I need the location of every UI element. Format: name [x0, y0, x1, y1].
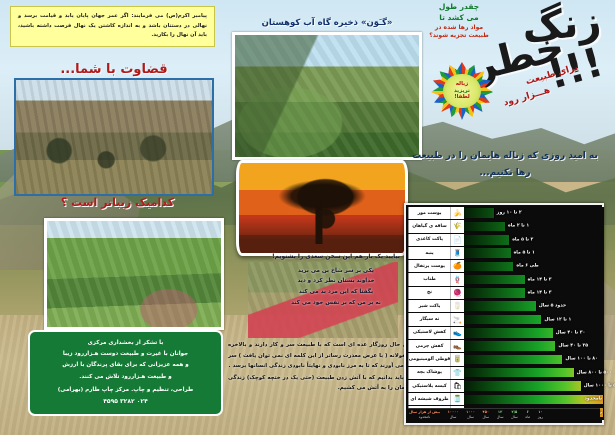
- chart-bar-value-label: ۳ تا ۱۴ ماه: [528, 277, 552, 282]
- essay-paragraph: همه ما باید بدانیم که با آتش زدن طبیعت (…: [228, 373, 424, 394]
- chart-bar-track: ۲ تا ۵ ماه: [464, 234, 604, 246]
- badge-line: نریزید: [454, 88, 470, 95]
- chart-bar-value-label: ۳۰ تا ۴۰ سال: [556, 330, 586, 335]
- chart-row-item-icon: 👕: [450, 367, 464, 379]
- chart-bar-value-label: ۲ تا ۱۰ روز: [497, 211, 522, 216]
- chart-bar: [464, 262, 514, 272]
- axis-tick: ۶ماه: [525, 410, 530, 419]
- chart-bar-value-label: ۲۵ تا ۴۰ سال: [558, 344, 588, 349]
- chart-bar-track: ۱ تا ۱۲ سال: [464, 313, 604, 325]
- chart-row-item-icon: 🍌: [450, 207, 464, 219]
- chart-row: ۳ تا ۱۴ ماه🪢طناب: [408, 273, 604, 286]
- axis-tick-unit: روز: [538, 415, 543, 419]
- chart-bar: [464, 248, 512, 258]
- chart-bar-track: ۲ تا ۱۰ روز: [464, 207, 604, 219]
- chart-row-label: پوشاک بچه: [408, 367, 450, 379]
- chart-row: ۵۰۰ تا ۸۰۰ سال👕پوشاک بچه: [408, 367, 604, 380]
- chart-row: ۵۱ تا ۱۰۰۰ سال🛍کیسه پلاستیکی: [408, 380, 604, 393]
- essay-paragraph: این مثل حال روزگار عده ای است که با طبیع…: [228, 340, 424, 372]
- chart-row-label: ظروف شیشه ای: [408, 393, 450, 405]
- chart-row-label: پنبه: [408, 247, 450, 259]
- chart-bar: [464, 315, 542, 325]
- hadith-box: پیامبر اکرم(ص) می فرمایند: اگر عمر جهان …: [10, 6, 215, 47]
- title-subline-hezarrud: هـــزار رود: [503, 86, 552, 109]
- chart-title-line4: طبیعت تجزیه شوند؟: [416, 32, 502, 41]
- credits-line: و طبیعت هـزاررود تلاش می کنند.: [38, 372, 213, 383]
- credits-line: با تشکر از بخشداری مرکزی: [38, 338, 213, 349]
- photo-burnt-forest: [14, 78, 214, 196]
- chart-bar-track: ۵۰۰ تا ۸۰۰ سال: [464, 367, 604, 379]
- chart-bar-value-label: ۳ تا ۱۴ ماه: [528, 290, 552, 295]
- axis-tick-unit: نامحدود: [419, 415, 431, 419]
- axis-tick: بیش از هزار سالنامحدود: [409, 410, 440, 419]
- chart-bar: [464, 368, 575, 378]
- chart-bar: [464, 208, 495, 218]
- chart-bar-value-label: طی ۶ ماه: [516, 264, 538, 269]
- chart-row-label: کیسه پلاستیکی: [408, 380, 450, 392]
- chart-bar: [464, 341, 556, 351]
- chart-bar: [464, 395, 604, 405]
- chart-bar: [464, 328, 554, 338]
- chart-row: حدود ۵ سال🥛پاکت شیر: [408, 300, 604, 313]
- chart-bar-value-label: ۱ تا ۲ ماه: [508, 224, 529, 229]
- chart-title: چقدر طول می کشد تا مواد رها شده در طبیعت…: [416, 2, 502, 41]
- chart-bar-track: ۸۰ تا ۱۰۰ سال: [464, 353, 604, 365]
- chart-row-item-icon: 🥛: [450, 300, 464, 312]
- chart-bar-track: ۱ تا ۵ ماه: [464, 247, 604, 259]
- chart-bar-track: ۳۰ تا ۴۰ سال: [464, 327, 604, 339]
- chart-x-axis: ۱۰روز۶ماه۲/۵سال۱۲سال۴۵۰سال۱۰۰۰سال۱۰۰۰۰سا…: [408, 408, 600, 421]
- poster-subtitle: به امید روزی که زباله هایمان را در طبیعت…: [407, 148, 603, 182]
- axis-tick-unit: سال: [511, 415, 518, 419]
- judge-title: قضاوت با شما...: [14, 62, 214, 77]
- chart-bar: [464, 222, 506, 232]
- axis-tick: ۱۰روز: [538, 410, 543, 419]
- axis-tick-unit: سال: [497, 415, 504, 419]
- axis-tick-unit: سال: [450, 415, 457, 419]
- caption-gavan: «گـَوَن» ذخیره گاه آب کوهستان: [232, 18, 422, 28]
- chart-row-label: ساقه ی گیاهان: [408, 220, 450, 232]
- photo-burning-tree: [236, 160, 408, 256]
- chart-row-label: پوست موز: [408, 207, 450, 219]
- chart-bar-track: ۳ تا ۱۴ ماه: [464, 273, 604, 285]
- chart-row: ۸۰ تا ۱۰۰ سال🥫قوطی آلومینیومی: [408, 353, 604, 366]
- poem-line: خداوند بستان نظر کرد و دید: [248, 276, 424, 287]
- chart-row-label: پوست پرتقال: [408, 260, 450, 272]
- badge-text: زباله نریزید لطفا!: [431, 62, 493, 120]
- chart-bar-track: نامحدود: [464, 393, 604, 405]
- decomposition-time-chart: ۲ تا ۱۰ روز🍌پوست موز۱ تا ۲ ماه🌾ساقه ی گی…: [404, 203, 604, 425]
- chart-row-item-icon: 📄: [450, 234, 464, 246]
- burning-tree-trunk: [315, 197, 322, 244]
- credits-line: و همه عزیزانی که برای بقای پرندگان با ار…: [38, 360, 213, 371]
- chart-row-item-icon: 🫙: [450, 393, 464, 405]
- chart-title-line1: چقدر طول: [416, 2, 502, 13]
- chart-row: ۳ تا ۱۴ ماه🧶نخ: [408, 287, 604, 300]
- chart-row-item-icon: 👟: [450, 327, 464, 339]
- chart-row-label: کفشِ لاستیکی: [408, 327, 450, 339]
- chart-bar: [464, 381, 582, 391]
- chart-bar-value-label: حدود ۵ سال: [539, 304, 566, 309]
- credits-box: با تشکر از بخشداری مرکزی جوانان با غیرت …: [28, 330, 223, 416]
- chart-bar-value-label: ۵۱ تا ۱۰۰۰ سال: [584, 384, 615, 389]
- chart-row-item-icon: 🛍: [450, 380, 464, 392]
- chart-bar-value-label: ۱ تا ۱۲ سال: [544, 317, 571, 322]
- axis-tick: ۱۰۰۰سال: [466, 410, 475, 419]
- chart-row-label: پاکت شیر: [408, 300, 450, 312]
- chart-row-item-icon: 🧵: [450, 247, 464, 259]
- chart-rows: ۲ تا ۱۰ روز🍌پوست موز۱ تا ۲ ماه🌾ساقه ی گی…: [408, 207, 604, 420]
- chart-row-item-icon: 🍊: [450, 260, 464, 272]
- chart-bar-value-label: نامحدود: [585, 397, 602, 402]
- chart-row-label: کفش چرمی: [408, 340, 450, 352]
- chart-title-line3: مواد رها شده در: [416, 24, 502, 33]
- chart-bar: [464, 275, 526, 285]
- chart-row: ۱ تا ۱۲ سال🚬ته سیگار: [408, 313, 604, 326]
- axis-tick: ۱۰۰۰۰سال: [448, 410, 459, 419]
- poem-line: نه بر من که بر نفس خود می کند: [248, 298, 424, 309]
- caption-which-is-more-beautiful: کدامیک زیباتر است ؟: [10, 196, 225, 209]
- chart-row-label: ته سیگار: [408, 313, 450, 325]
- no-littering-badge: زباله نریزید لطفا!: [431, 62, 493, 120]
- chart-row-item-icon: 🚬: [450, 313, 464, 325]
- chart-row: ۳۰ تا ۴۰ سال👟کفشِ لاستیکی: [408, 327, 604, 340]
- chart-row: ۱ تا ۲ ماه🌾ساقه ی گیاهان: [408, 220, 604, 233]
- credits-phone: ۰۲۴ ۳۲۸۲ ۴۵۹۵: [38, 396, 213, 408]
- chart-bar: [464, 235, 510, 245]
- chart-row: ۲ تا ۵ ماه📄پاکت کاغذی: [408, 234, 604, 247]
- chart-bar: [464, 355, 563, 365]
- badge-line: زباله: [456, 81, 468, 88]
- chart-bar: [464, 288, 526, 298]
- chart-row: ۱ تا ۵ ماه🧵پنبه: [408, 247, 604, 260]
- axis-tick: ۴۵۰سال: [482, 410, 489, 419]
- chart-row-item-icon: 👞: [450, 340, 464, 352]
- credits-print-house: طراحی، تنظیم و چاپ. مرکز چاپ طارم (بهرام…: [38, 385, 213, 396]
- chart-row: نامحدود🫙ظروف شیشه ای: [408, 393, 604, 406]
- chart-bar-value-label: ۲ تا ۵ ماه: [512, 237, 533, 242]
- chart-row-item-icon: 🧶: [450, 287, 464, 299]
- axis-tick-unit: ماه: [525, 415, 530, 419]
- photo-green-meadow: [44, 218, 224, 330]
- photo-gavan-mountain: [232, 32, 422, 160]
- poem-line: بگفتا که این مرد بد می کند: [248, 287, 424, 298]
- chart-bar-track: ۱ تا ۲ ماه: [464, 220, 604, 232]
- chart-bar-track: ۳ تا ۱۴ ماه: [464, 287, 604, 299]
- chart-row-item-icon: 🥫: [450, 353, 464, 365]
- chart-bar-value-label: ۵۰۰ تا ۸۰۰ سال: [577, 370, 612, 375]
- chart-bar-track: ۲۵ تا ۴۰ سال: [464, 340, 604, 352]
- axis-tick-group: ۱۰روز۶ماه۲/۵سال۱۲سال۴۵۰سال۱۰۰۰سال۱۰۰۰۰سا…: [408, 410, 544, 419]
- poem-lead: بیایید یک بار هم این سخن سعدی را بشنویم!: [248, 252, 424, 264]
- chart-bar-track: حدود ۵ سال: [464, 300, 604, 312]
- axis-tick: ۱۲سال: [497, 410, 504, 419]
- chart-bar: [464, 301, 537, 311]
- chart-row-label: قوطی آلومینیومی: [408, 353, 450, 365]
- axis-tick-unit: سال: [482, 415, 489, 419]
- chart-row-label: طناب: [408, 273, 450, 285]
- chart-row: ۲۵ تا ۴۰ سال👞کفش چرمی: [408, 340, 604, 353]
- axis-tick-unit: سال: [467, 415, 474, 419]
- chart-row: ۲ تا ۱۰ روز🍌پوست موز: [408, 207, 604, 220]
- badge-line: لطفا!: [454, 94, 470, 101]
- chart-row-item-icon: 🪢: [450, 273, 464, 285]
- saadi-poem-block: بیایید یک بار هم این سخن سعدی را بشنویم!…: [248, 252, 424, 309]
- chart-bar-track: ۵۱ تا ۱۰۰۰ سال: [464, 380, 604, 392]
- chart-bar-value-label: ۸۰ تا ۱۰۰ سال: [565, 357, 598, 362]
- chart-bar-value-label: ۱ تا ۵ ماه: [514, 251, 535, 256]
- chart-row-label: پاکت کاغذی: [408, 234, 450, 246]
- chart-bar-track: طی ۶ ماه: [464, 260, 604, 272]
- poem-line: یکی بر سر شاخ بن می برید: [248, 266, 424, 277]
- chart-row-label: نخ: [408, 287, 450, 299]
- axis-tick: ۲/۵سال: [511, 410, 518, 419]
- essay-block: این مثل حال روزگار عده ای است که با طبیع…: [228, 340, 424, 395]
- poster-root: پیامبر اکرم(ص) می فرمایند: اگر عمر جهان …: [0, 0, 615, 435]
- chart-title-line2: می کشد تا: [416, 13, 502, 24]
- chart-row: طی ۶ ماه🍊پوست پرتقال: [408, 260, 604, 273]
- credits-line: جوانان با غیرت و طبیعت دوست هـزاررود زیب…: [38, 349, 213, 360]
- burning-tree-crown: [271, 177, 374, 215]
- chart-row-item-icon: 🌾: [450, 220, 464, 232]
